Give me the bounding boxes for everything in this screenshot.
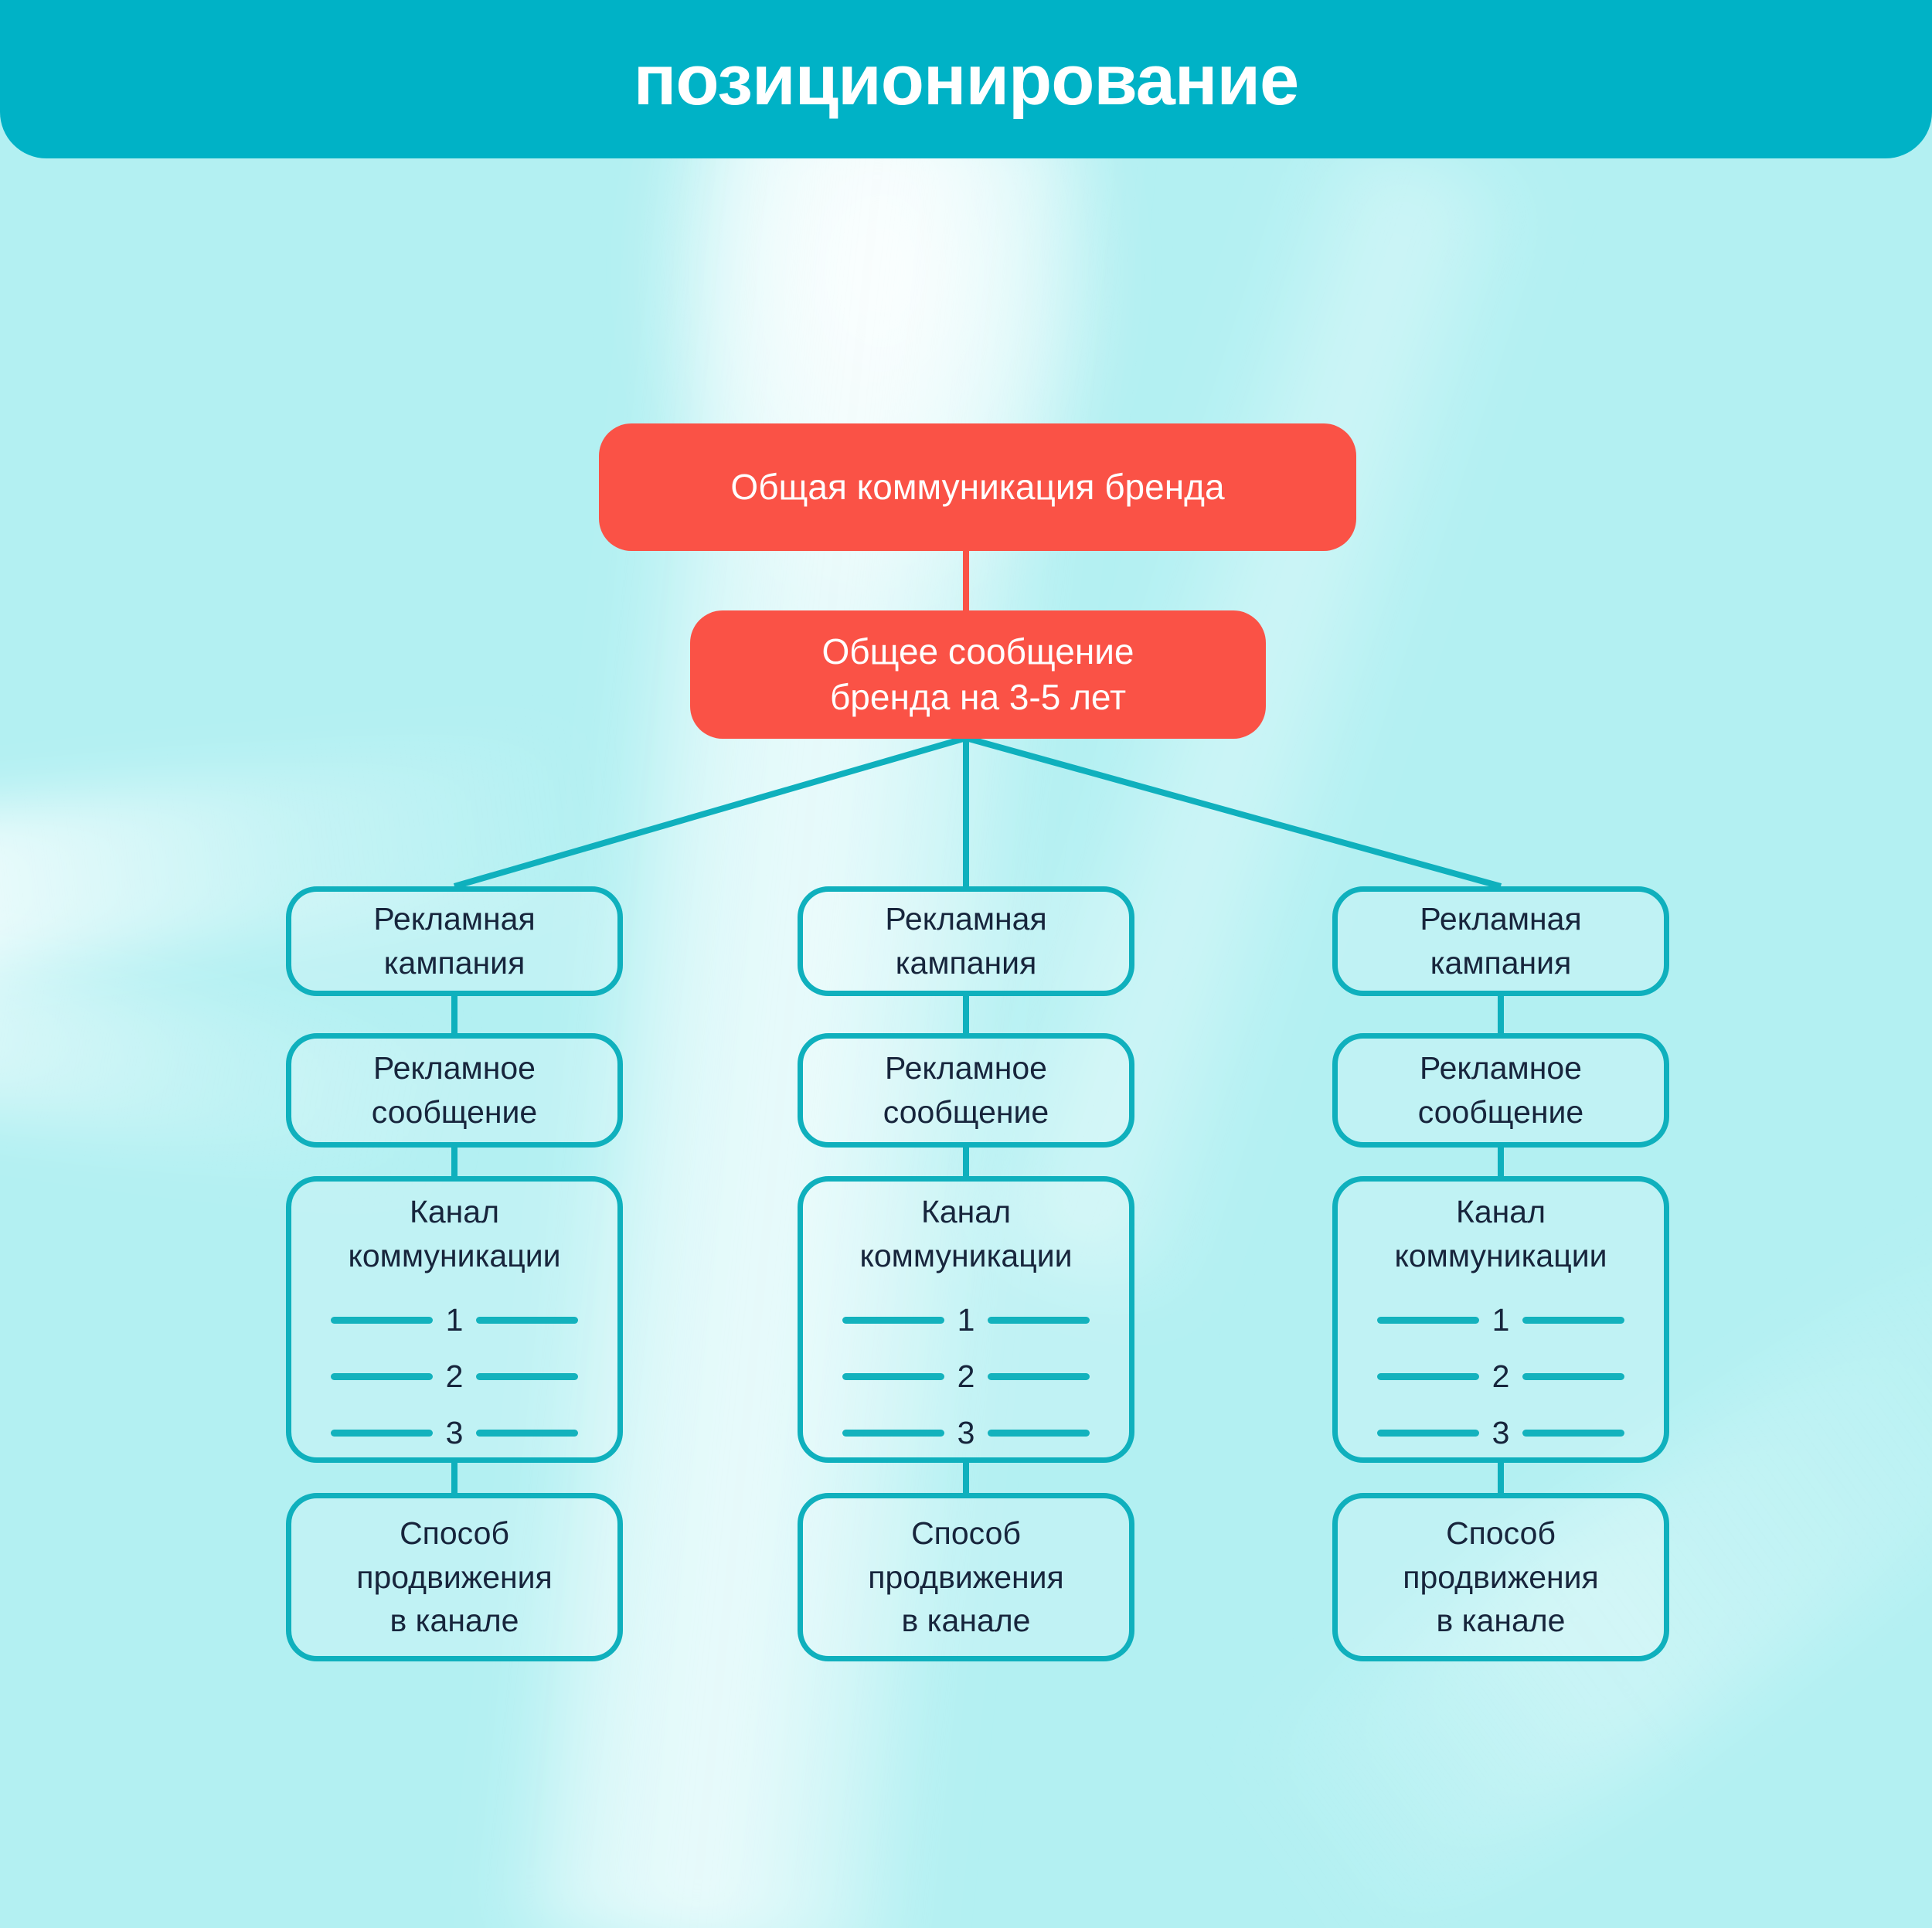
node-col1-channel-line2: коммуникации (348, 1234, 560, 1278)
channel-row[interactable]: 2 (331, 1361, 578, 1392)
node-col3-communication-channel[interactable]: Канал коммуникации 1 2 3 (1332, 1176, 1669, 1463)
node-col3-channel-line2: коммуникации (1394, 1234, 1607, 1278)
dash-left-icon (842, 1430, 944, 1437)
node-col3-ad-message-line2: сообщение (1418, 1090, 1583, 1134)
dash-left-icon (1377, 1430, 1479, 1437)
node-col1-ad-campaign-line1: Рекламная (373, 897, 535, 941)
channel-row[interactable]: 1 (1377, 1304, 1624, 1336)
header-banner: позиционирование (0, 0, 1932, 158)
channel-row-number: 2 (957, 1361, 975, 1392)
channel-row-number: 1 (957, 1304, 975, 1336)
channel-row[interactable]: 3 (1377, 1417, 1624, 1449)
node-col2-promotion-line2: продвижения (868, 1556, 1064, 1600)
node-col1-promotion-line2: продвижения (356, 1556, 553, 1600)
channel-row[interactable]: 1 (331, 1304, 578, 1336)
dash-right-icon (476, 1373, 578, 1380)
channel-row-number: 2 (1492, 1361, 1510, 1392)
dash-left-icon (842, 1317, 944, 1324)
node-col3-ad-campaign[interactable]: Рекламная кампания (1332, 886, 1669, 996)
node-brand-message[interactable]: Общее сообщение бренда на 3-5 лет (690, 610, 1266, 739)
node-col1-channel-line1: Канал (348, 1190, 560, 1234)
node-col3-channel-title: Канал коммуникации (1394, 1190, 1607, 1277)
node-col2-ad-campaign-line2: кампания (896, 941, 1037, 985)
node-col2-ad-message-line1: Рекламное (885, 1046, 1047, 1090)
channel-row[interactable]: 3 (331, 1417, 578, 1449)
dash-left-icon (331, 1317, 433, 1324)
node-col3-promotion-line1: Способ (1446, 1511, 1556, 1556)
node-col3-ad-campaign-line1: Рекламная (1420, 897, 1581, 941)
node-col3-promotion-line2: продвижения (1403, 1556, 1599, 1600)
node-col2-ad-campaign-line1: Рекламная (885, 897, 1046, 941)
dash-right-icon (476, 1430, 578, 1437)
channel-row[interactable]: 1 (842, 1304, 1090, 1336)
dash-left-icon (331, 1430, 433, 1437)
node-col1-promotion-method[interactable]: Способ продвижения в канале (286, 1493, 623, 1661)
node-col3-promotion-method[interactable]: Способ продвижения в канале (1332, 1493, 1669, 1661)
node-col2-promotion-line3: в канале (902, 1599, 1031, 1643)
node-col2-communication-channel[interactable]: Канал коммуникации 1 2 3 (798, 1176, 1134, 1463)
node-col3-ad-message[interactable]: Рекламное сообщение (1332, 1033, 1669, 1148)
node-col3-channel-line1: Канал (1394, 1190, 1607, 1234)
node-col2-channel-line2: коммуникации (859, 1234, 1072, 1278)
node-col2-channel-rows: 1 2 3 (803, 1304, 1129, 1449)
node-col1-channel-title: Канал коммуникации (348, 1190, 560, 1277)
node-col2-ad-message-line2: сообщение (883, 1090, 1049, 1134)
dash-right-icon (988, 1317, 1090, 1324)
node-col2-promotion-method[interactable]: Способ продвижения в канале (798, 1493, 1134, 1661)
node-col1-ad-campaign-line2: кампания (384, 941, 526, 985)
node-col1-channel-rows: 1 2 3 (291, 1304, 617, 1449)
node-col1-communication-channel[interactable]: Канал коммуникации 1 2 3 (286, 1176, 623, 1463)
org-diagram: Общая коммуникация бренда Общее сообщени… (0, 0, 1932, 1928)
node-col1-promotion-line1: Способ (400, 1511, 509, 1556)
channel-row-number: 1 (1492, 1304, 1510, 1336)
dash-right-icon (988, 1373, 1090, 1380)
node-col2-promotion-line1: Способ (911, 1511, 1021, 1556)
channel-row[interactable]: 2 (842, 1361, 1090, 1392)
channel-row[interactable]: 3 (842, 1417, 1090, 1449)
node-brand-communication-label: Общая коммуникация бренда (730, 464, 1224, 510)
node-col3-channel-rows: 1 2 3 (1338, 1304, 1664, 1449)
channel-row-number: 1 (445, 1304, 464, 1336)
dash-right-icon (1522, 1373, 1624, 1380)
channel-row-number: 3 (445, 1417, 464, 1449)
dash-right-icon (476, 1317, 578, 1324)
channel-row-number: 3 (957, 1417, 975, 1449)
node-col3-ad-campaign-line2: кампания (1430, 941, 1572, 985)
channel-row-number: 2 (445, 1361, 464, 1392)
node-brand-message-line2: бренда на 3-5 лет (830, 675, 1126, 720)
dash-right-icon (1522, 1317, 1624, 1324)
node-col1-ad-message[interactable]: Рекламное сообщение (286, 1033, 623, 1148)
node-col1-ad-campaign[interactable]: Рекламная кампания (286, 886, 623, 996)
node-col3-ad-message-line1: Рекламное (1420, 1046, 1582, 1090)
node-col2-channel-title: Канал коммуникации (859, 1190, 1072, 1277)
node-col1-ad-message-line1: Рекламное (373, 1046, 536, 1090)
node-col3-promotion-line3: в канале (1437, 1599, 1566, 1643)
node-col2-ad-message[interactable]: Рекламное сообщение (798, 1033, 1134, 1148)
node-col1-promotion-line3: в канале (390, 1599, 519, 1643)
node-col1-ad-message-line2: сообщение (372, 1090, 537, 1134)
dash-left-icon (331, 1373, 433, 1380)
dash-left-icon (842, 1373, 944, 1380)
node-brand-communication[interactable]: Общая коммуникация бренда (599, 423, 1356, 551)
dash-left-icon (1377, 1317, 1479, 1324)
dash-right-icon (1522, 1430, 1624, 1437)
node-col2-ad-campaign[interactable]: Рекламная кампания (798, 886, 1134, 996)
slide-canvas: позиционирование Общая комм (0, 0, 1932, 1928)
dash-left-icon (1377, 1373, 1479, 1380)
node-brand-message-line1: Общее сообщение (821, 629, 1134, 675)
channel-row[interactable]: 2 (1377, 1361, 1624, 1392)
node-col2-channel-line1: Канал (859, 1190, 1072, 1234)
page-title: позиционирование (634, 36, 1298, 116)
dash-right-icon (988, 1430, 1090, 1437)
channel-row-number: 3 (1492, 1417, 1510, 1449)
